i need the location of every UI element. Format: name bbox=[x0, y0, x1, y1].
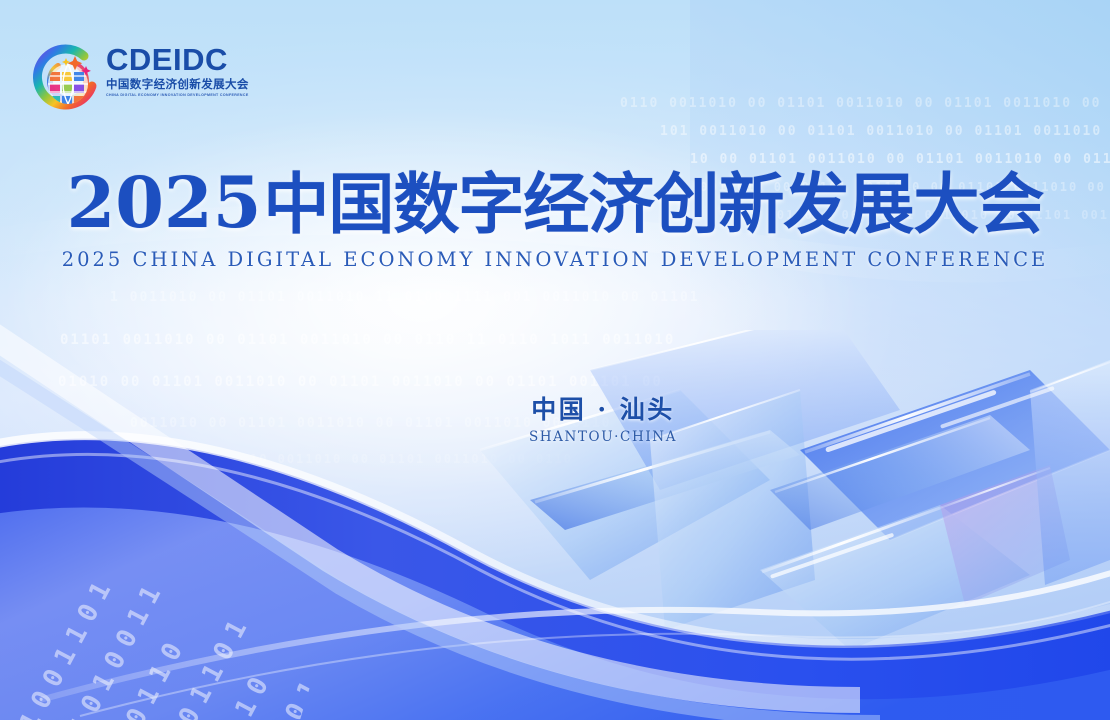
location-chinese: 中国 · 汕头 bbox=[498, 396, 708, 425]
title-english-subtitle: 2025 CHINA DIGITAL ECONOMY INNOVATION DE… bbox=[0, 248, 1110, 271]
conference-poster: 0110 0011010 00 01101 0011010 00 01101 0… bbox=[0, 0, 1110, 720]
location-block: 中国 · 汕头 SHANTOU·CHINA bbox=[498, 396, 708, 445]
location-english: SHANTOU·CHINA bbox=[498, 429, 708, 445]
logo-chinese-name: 中国数字经济创新发展大会 bbox=[106, 79, 256, 91]
logo-wordmark: CDEIDC bbox=[106, 44, 256, 75]
globe-swoosh-logo-icon bbox=[28, 42, 100, 114]
title-year: 2025 bbox=[67, 161, 262, 244]
logo-english-name: CHINA DIGITAL ECONOMY INNOVATION DEVELOP… bbox=[106, 94, 256, 98]
conference-logo[interactable]: CDEIDC 中国数字经济创新发展大会 CHINA DIGITAL ECONOM… bbox=[28, 40, 228, 116]
logo-textblock: CDEIDC 中国数字经济创新发展大会 CHINA DIGITAL ECONOM… bbox=[106, 44, 256, 97]
poster-title-block: 2025中国数字经济创新发展大会 2025 CHINA DIGITAL ECON… bbox=[0, 168, 1110, 271]
title-chinese: 中国数字经济创新发展大会 bbox=[263, 165, 1043, 243]
page-title: 2025中国数字经济创新发展大会 bbox=[0, 168, 1110, 238]
